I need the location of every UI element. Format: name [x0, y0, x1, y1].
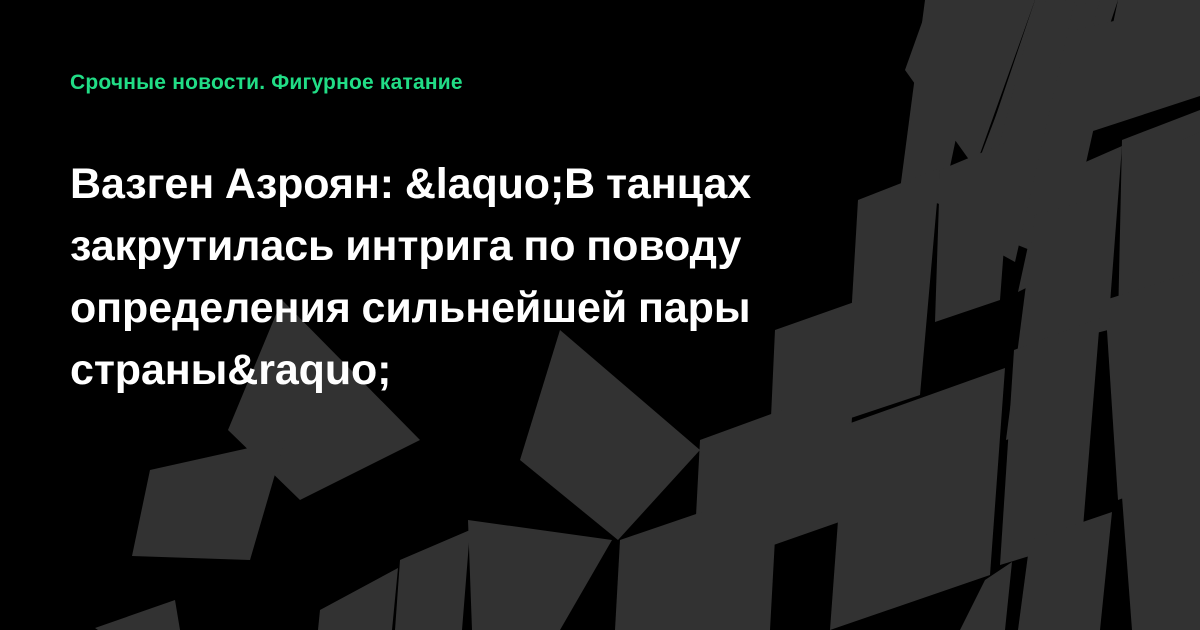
shard-15: [1018, 512, 1112, 630]
headline-line-1: Вазген Азроян: &laquo;В танцах: [70, 153, 900, 215]
headline-line-3: определения сильнейшей пары: [70, 277, 900, 339]
kicker-label: Срочные новости. Фигурное катание: [70, 70, 1200, 95]
shard-25: [95, 600, 180, 630]
card-content: Срочные новости. Фигурное катание Вазген…: [0, 0, 1200, 401]
shard-24: [318, 568, 398, 630]
shard-21: [830, 368, 1005, 630]
shard-22: [960, 562, 1012, 630]
shard-20: [615, 512, 702, 630]
headline-line-2: закрутилась интрига по поводу: [70, 215, 900, 277]
social-share-card: Срочные новости. Фигурное катание Вазген…: [0, 0, 1200, 630]
shard-27: [132, 440, 285, 560]
shard-14: [1120, 450, 1200, 630]
shard-23: [395, 530, 470, 630]
shard-19: [690, 410, 782, 630]
shard-28: [468, 520, 612, 630]
headline-title: Вазген Азроян: &laquo;В танцах закрутила…: [70, 153, 900, 401]
headline-line-4: страны&raquo;: [70, 339, 900, 401]
